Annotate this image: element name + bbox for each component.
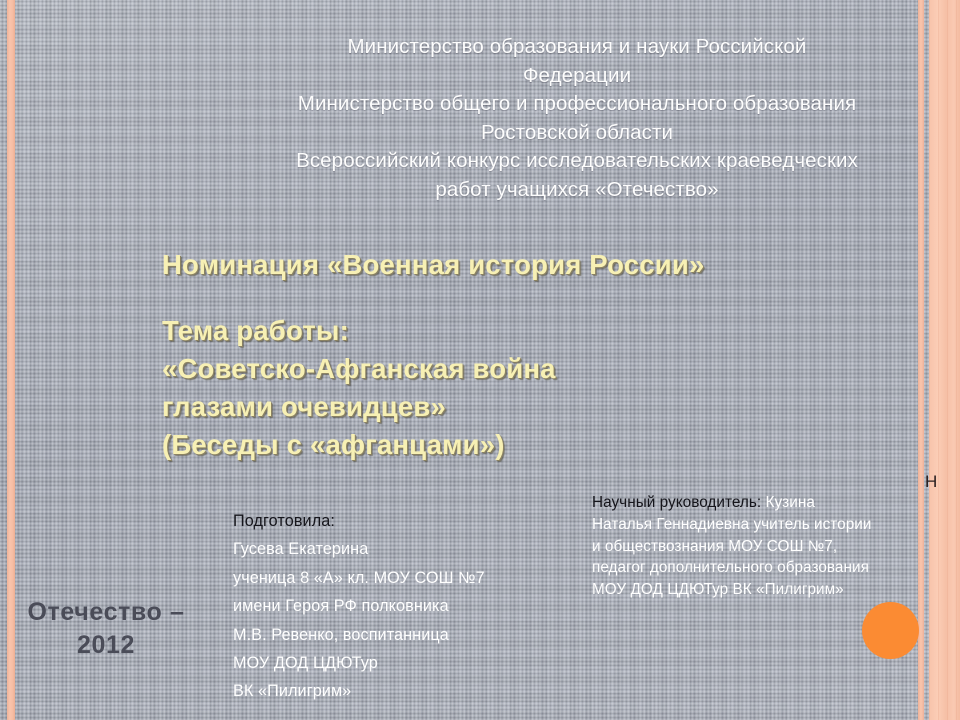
work-title-line-2: глазами очевидцев» [162,388,862,426]
author-credits: Подготовила: Гусева Екатерина ученица 8 … [233,507,553,706]
right-border-stripe-wide [929,0,960,720]
work-title-line-1: «Советско-Афганская война [162,350,862,388]
stray-character: Н [925,473,937,490]
brand-line-1: Отечество – [0,596,212,629]
author-line-1: Гусева Екатерина [233,535,553,563]
author-line-2: ученица 8 «А» кл. МОУ СОШ №7 [233,564,553,592]
author-line-3: имени Героя РФ полковника [233,592,553,620]
header-line-1: Министерство образования и науки Российс… [232,33,922,62]
header-line-4: Ростовской области [232,119,922,148]
header-line-2: Федерации [232,62,922,91]
title-block: Номинация «Военная история России» Тема … [162,246,862,464]
header-line-5: Всероссийский конкурс исследовательских … [232,147,922,176]
author-label: Подготовила: [233,507,553,535]
presentation-slide: Министерство образования и науки Российс… [0,0,960,720]
nomination-line: Номинация «Военная история России» [162,246,862,284]
title-spacer [162,284,862,312]
work-label: Тема работы: [162,312,862,350]
header-line-3: Министерство общего и профессионального … [232,90,922,119]
supervisor-label: Научный руководитель: [592,494,761,511]
contest-brand: Отечество – 2012 [0,596,212,662]
author-line-5: МОУ ДОД ЦДЮТур [233,649,553,677]
author-line-6: ВК «Пилигрим» [233,677,553,705]
work-title-line-3: (Беседы с «афганцами») [162,426,862,464]
organization-header: Министерство образования и науки Российс… [232,33,922,205]
supervisor-credits: Научный руководитель: Кузина Наталья Ген… [592,492,877,601]
orange-circle-decoration [862,602,919,659]
author-line-4: М.В. Ревенко, воспитанница [233,621,553,649]
brand-line-2: 2012 [0,629,212,662]
header-line-6: работ учащихся «Отечество» [232,176,922,205]
